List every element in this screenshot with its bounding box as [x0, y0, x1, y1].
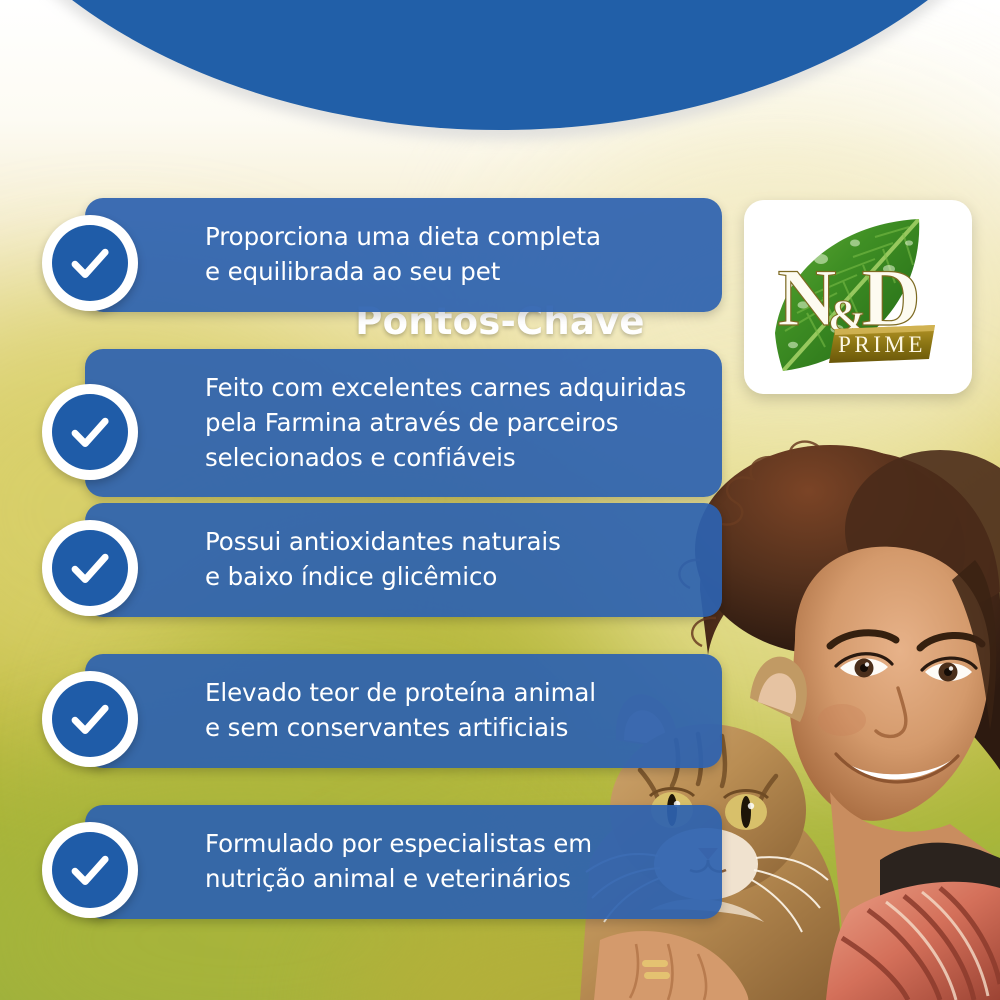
check-icon	[42, 215, 138, 311]
bullet-text: Formulado por especialistas em nutrição …	[205, 827, 696, 897]
bullet-card[interactable]: Possui antioxidantes naturais e baixo ín…	[85, 503, 722, 617]
bullet-card[interactable]: Feito com excelentes carnes adquiridas p…	[85, 349, 722, 497]
check-icon	[42, 520, 138, 616]
bullet-text: Elevado teor de proteína animal e sem co…	[205, 676, 696, 746]
bullet-card[interactable]: Elevado teor de proteína animal e sem co…	[85, 654, 722, 768]
poster-canvas: Pontos-Chave	[0, 0, 1000, 1000]
bullet-card[interactable]: Formulado por especialistas em nutrição …	[85, 805, 722, 919]
bullet-text: Proporciona uma dieta completa e equilib…	[205, 220, 696, 290]
check-icon	[42, 671, 138, 767]
check-icon	[42, 384, 138, 480]
bullet-text: Possui antioxidantes naturais e baixo ín…	[205, 525, 696, 595]
bullet-card[interactable]: Proporciona uma dieta completa e equilib…	[85, 198, 722, 312]
check-icon	[42, 822, 138, 918]
key-points-list: Proporciona uma dieta completa e equilib…	[0, 0, 1000, 1000]
bullet-text: Feito com excelentes carnes adquiridas p…	[205, 371, 696, 475]
